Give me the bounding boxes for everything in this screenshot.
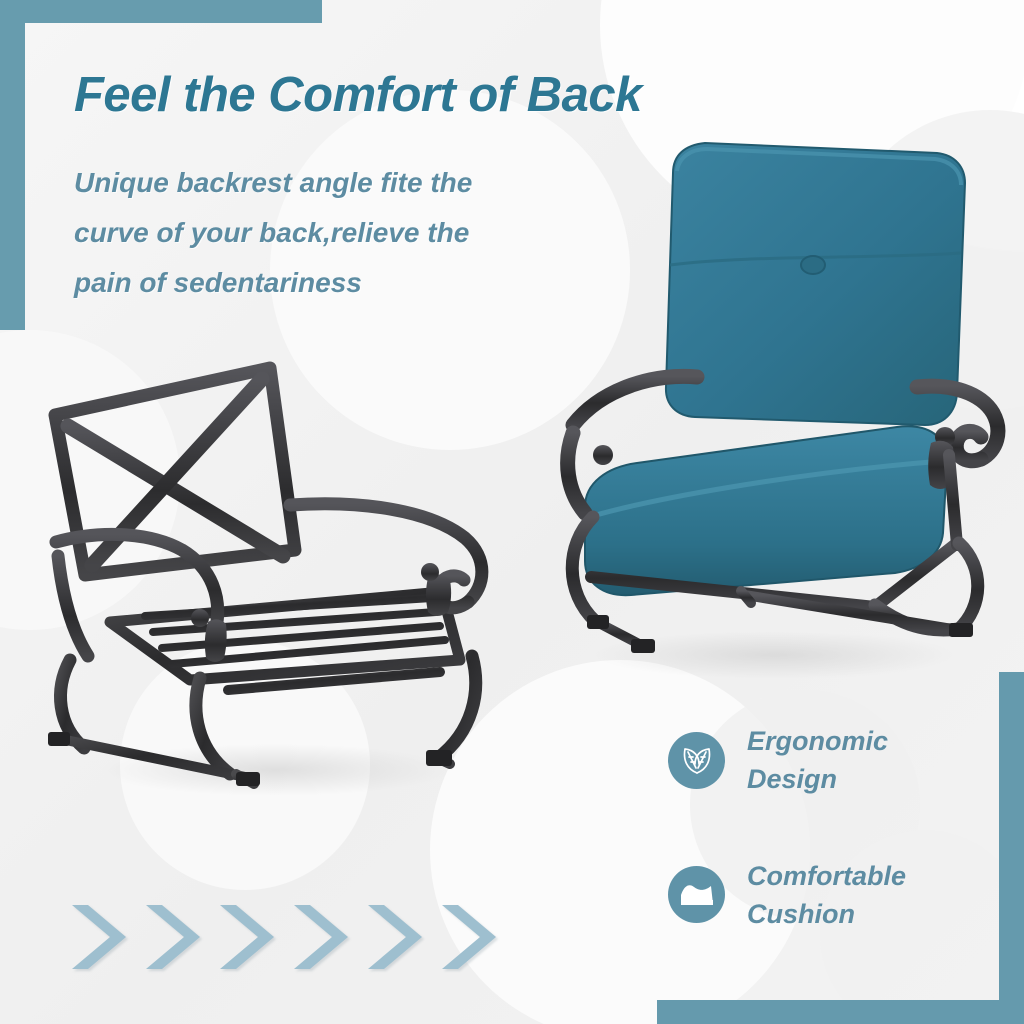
- chevron-right-icon: [216, 903, 278, 971]
- feature-item-comfortable-cushion[interactable]: Comfortable Cushion: [668, 857, 968, 934]
- product-image-metal-chair-frame: [40, 360, 510, 810]
- subcopy: Unique backrest angle fite the curve of …: [74, 158, 594, 307]
- chevron-right-icon: [290, 903, 352, 971]
- chevron-right-icon: [438, 903, 500, 971]
- feature-label-line-2: Design: [747, 760, 888, 798]
- feature-label-comfortable-cushion: Comfortable Cushion: [747, 857, 906, 934]
- corner-frame-top-left-horizontal: [0, 0, 322, 23]
- chevron-strip: [68, 903, 512, 971]
- chevron-right-icon: [364, 903, 426, 971]
- subcopy-line-3: pain of sedentariness: [74, 258, 594, 308]
- corner-frame-bottom-right-horizontal: [657, 1000, 1024, 1024]
- subcopy-line-1: Unique backrest angle fite the: [74, 158, 594, 208]
- page-title: Feel the Comfort of Back: [74, 68, 834, 123]
- corner-frame-top-left-vertical: [0, 0, 25, 330]
- feature-label-ergonomic-design: Ergonomic Design: [747, 722, 888, 799]
- feature-label-line-1: Comfortable: [747, 857, 906, 895]
- feature-item-ergonomic-design[interactable]: Ergonomic Design: [668, 722, 968, 799]
- cushion-icon: [668, 866, 725, 923]
- product-banner: Feel the Comfort of Back Unique backrest…: [0, 0, 1024, 1024]
- feature-label-line-2: Cushion: [747, 895, 906, 933]
- chevron-right-icon: [142, 903, 204, 971]
- subcopy-line-2: curve of your back,relieve the: [74, 208, 594, 258]
- chevron-right-icon: [68, 903, 130, 971]
- leaf-icon: [668, 732, 725, 789]
- product-image-cushioned-chair: [545, 125, 1015, 695]
- corner-frame-bottom-right-vertical: [999, 672, 1024, 1024]
- feature-list: Ergonomic Design Comfortable Cushion: [668, 722, 968, 991]
- feature-label-line-1: Ergonomic: [747, 722, 888, 760]
